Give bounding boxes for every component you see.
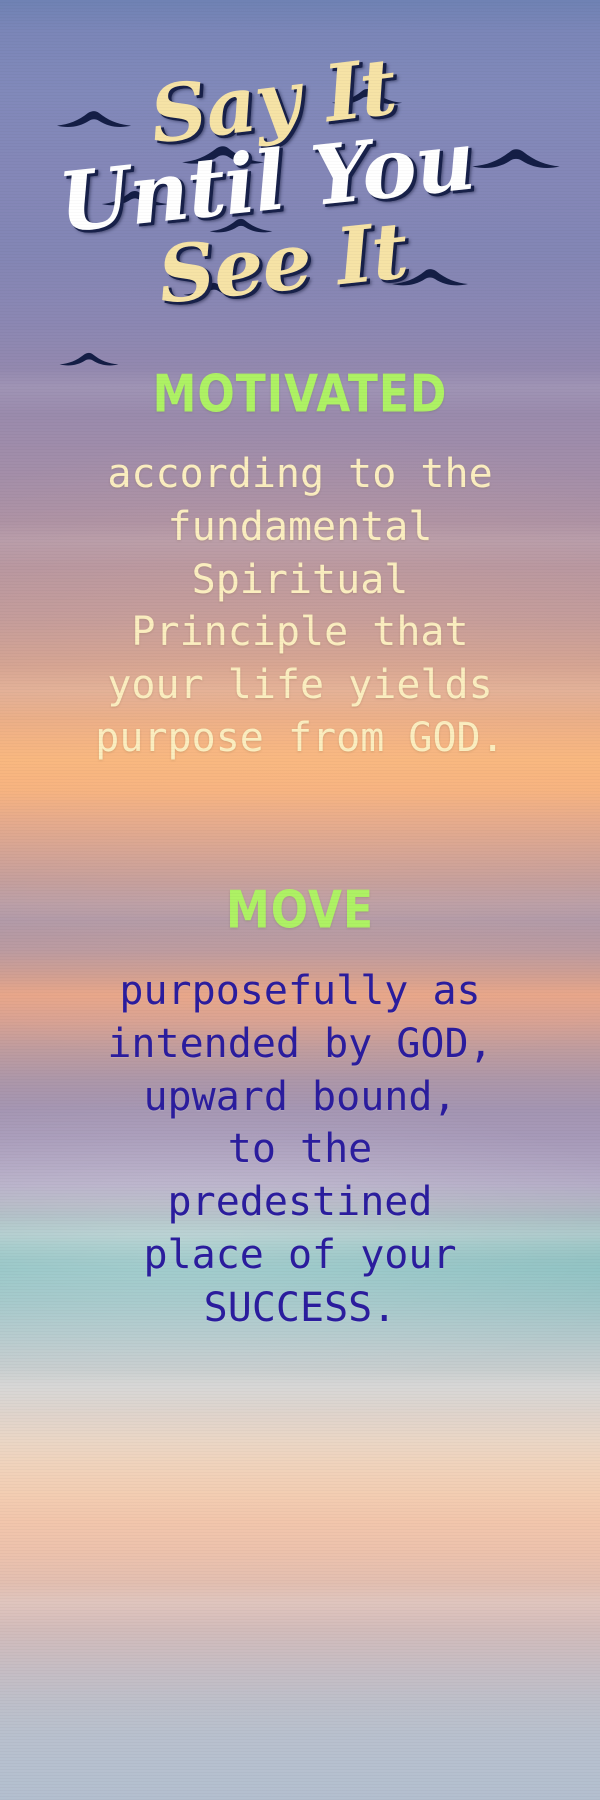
- kicker-move: MOVE: [0, 884, 600, 939]
- navy-line: intended by GOD,: [0, 1018, 600, 1071]
- cream-line: Principle that: [0, 606, 600, 659]
- kicker-motivated-block: MOTIVATED: [0, 372, 600, 418]
- kicker-motivated: MOTIVATED: [0, 368, 600, 423]
- navy-paragraph-block: purposefully as intended by GOD, upward …: [0, 965, 600, 1335]
- kicker-move-block: MOVE: [0, 888, 600, 934]
- cream-line: fundamental: [0, 501, 600, 554]
- cream-line: Spiritual: [0, 554, 600, 607]
- cream-paragraph-block: according to the fundamental Spiritual P…: [0, 448, 600, 765]
- navy-line: SUCCESS.: [0, 1282, 600, 1335]
- quote-poster: Say It Until You See It MOTIVATED accord…: [0, 0, 600, 1800]
- cream-line: your life yields: [0, 659, 600, 712]
- navy-line: upward bound,: [0, 1071, 600, 1124]
- cream-paragraph: according to the fundamental Spiritual P…: [0, 448, 600, 765]
- cream-line: purpose from GOD.: [0, 712, 600, 765]
- navy-line: predestined: [0, 1176, 600, 1229]
- navy-line: place of your: [0, 1229, 600, 1282]
- navy-line: to the: [0, 1123, 600, 1176]
- navy-paragraph: purposefully as intended by GOD, upward …: [0, 965, 600, 1335]
- cream-line: according to the: [0, 448, 600, 501]
- navy-line: purposefully as: [0, 965, 600, 1018]
- poster-headline: Say It Until You See It: [0, 18, 600, 318]
- bird-bottom-left-icon: [58, 352, 120, 368]
